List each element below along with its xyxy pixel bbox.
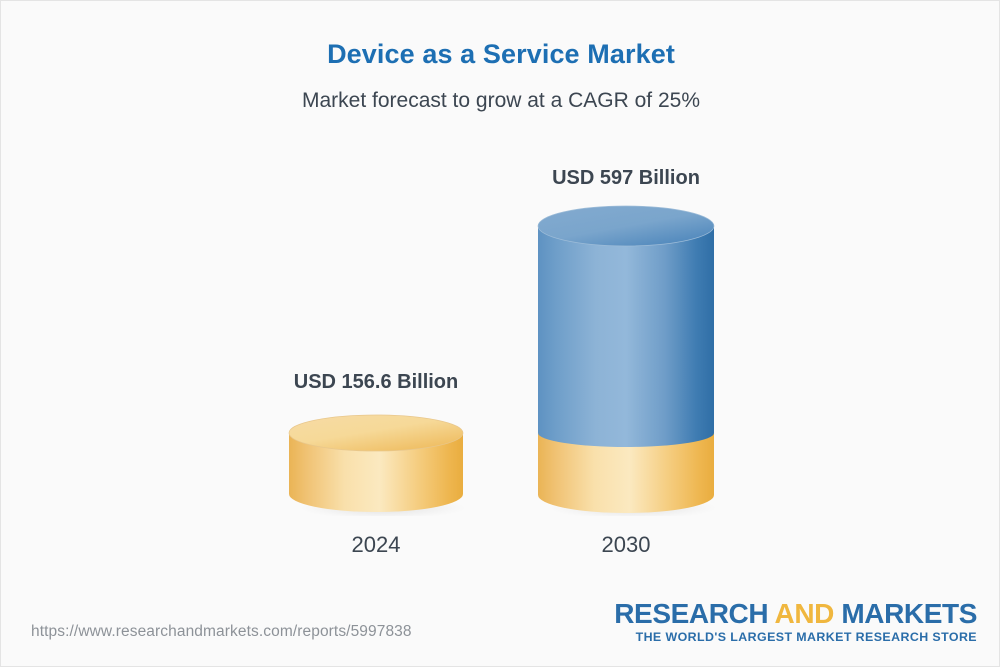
logo-research-text: RESEARCH bbox=[614, 598, 774, 629]
logo-tagline: THE WORLD'S LARGEST MARKET RESEARCH STOR… bbox=[614, 631, 977, 645]
logo-wordmark: RESEARCH AND MARKETS bbox=[614, 599, 977, 628]
source-url[interactable]: https://www.researchandmarkets.com/repor… bbox=[31, 623, 412, 641]
value-label-2030: USD 597 Billion bbox=[476, 167, 776, 190]
bar-2030 bbox=[536, 205, 716, 516]
chart-plot-area: USD 156.6 Billion bbox=[1, 1, 1000, 601]
category-label-2030: 2030 bbox=[476, 532, 776, 558]
cylinder-2030-svg bbox=[536, 205, 716, 516]
cylinder-2024-svg bbox=[287, 414, 465, 516]
research-and-markets-logo[interactable]: RESEARCH AND MARKETS THE WORLD'S LARGEST… bbox=[614, 599, 977, 645]
bar-2024 bbox=[287, 414, 465, 516]
logo-and-text: AND bbox=[775, 598, 842, 629]
infographic-canvas: Device as a Service Market Market foreca… bbox=[0, 0, 1000, 667]
value-label-2024: USD 156.6 Billion bbox=[226, 371, 526, 394]
logo-markets-text: MARKETS bbox=[841, 598, 977, 629]
